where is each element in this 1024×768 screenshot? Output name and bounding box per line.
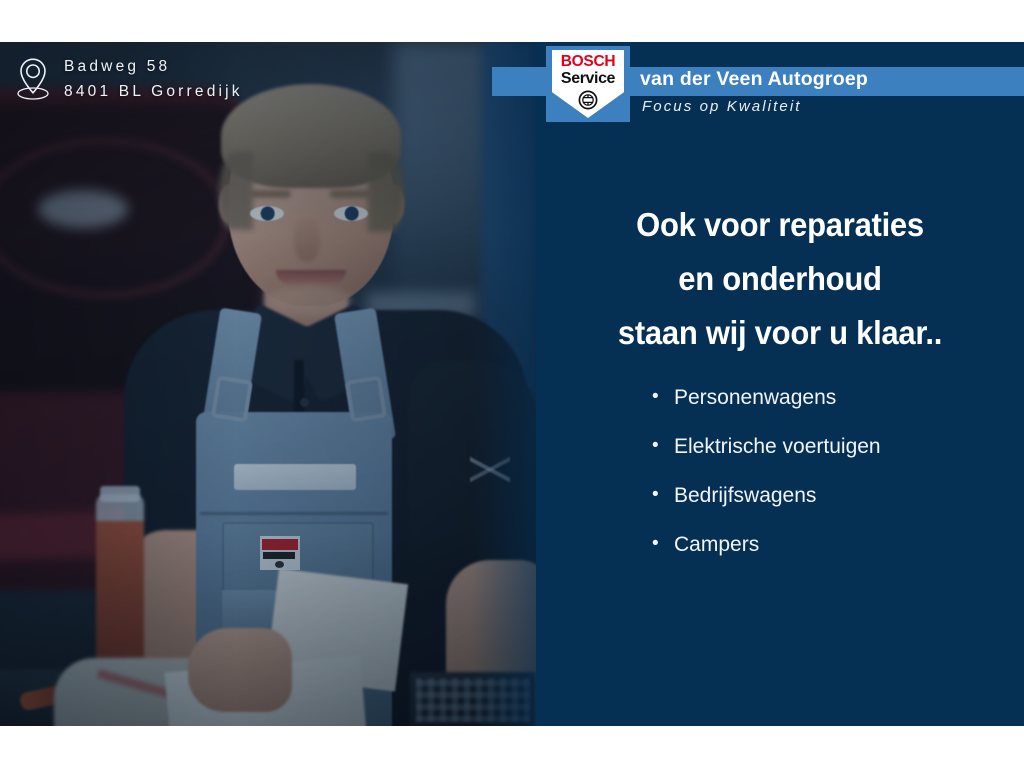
company-tagline: Focus op Kwaliteit [642, 98, 802, 115]
location-pin-icon [16, 57, 50, 101]
list-item: Bedrijfswagens [652, 483, 881, 509]
info-panel: BOSCH Service van der Veen Autogroep Foc… [536, 42, 1024, 726]
bosch-armature-icon [578, 90, 598, 110]
services-list: Personenwagens Elektrische voertuigen Be… [652, 385, 881, 581]
address-overlay: Badweg 58 8401 BL Gorredijk [16, 54, 243, 104]
bosch-service-logo[interactable]: BOSCH Service [546, 46, 630, 122]
address-street: Badweg 58 [64, 54, 243, 79]
logo-service-word: Service [546, 70, 630, 88]
list-item: Campers [652, 532, 881, 558]
photo-color-grade [0, 42, 536, 726]
headline-line-3: staan wij voor u klaar.. [551, 306, 1010, 360]
brand-identity: van der Veen Autogroep Focus op Kwalitei… [640, 52, 1024, 130]
promotional-banner: Badweg 58 8401 BL Gorredijk BOSCH Servic… [0, 42, 1024, 726]
headline-line-1: Ook voor reparaties [551, 198, 1010, 252]
logo-bosch-word: BOSCH [546, 53, 630, 71]
photo-right-edge-fade [472, 42, 536, 726]
workshop-photo [0, 42, 536, 726]
company-name: van der Veen Autogroep [640, 68, 868, 91]
headline: Ook voor reparaties en onderhoud staan w… [551, 198, 1010, 360]
list-item: Elektrische voertuigen [652, 434, 881, 460]
address-text: Badweg 58 8401 BL Gorredijk [64, 54, 243, 104]
list-item: Personenwagens [652, 385, 881, 411]
address-city: 8401 BL Gorredijk [64, 79, 243, 104]
headline-line-2: en onderhoud [551, 252, 1010, 306]
